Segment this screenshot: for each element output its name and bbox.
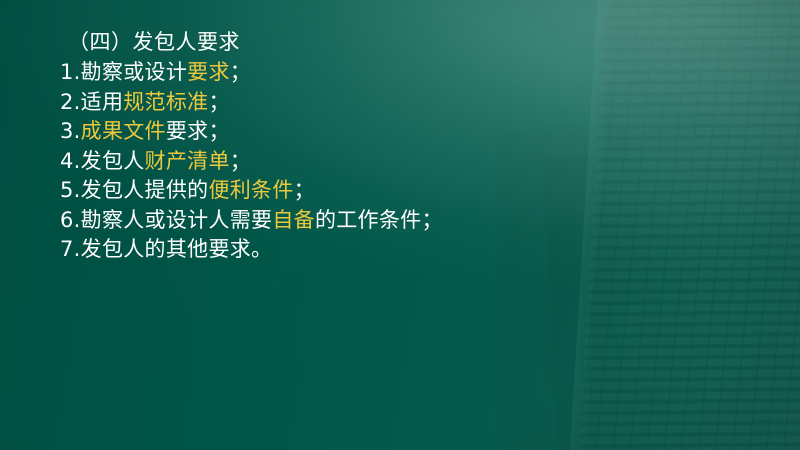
bullet-text: 要求； bbox=[166, 119, 230, 143]
slide-content: （四）发包人要求 1.勘察或设计要求；2.适用规范标准；3.成果文件要求；4.发… bbox=[0, 0, 800, 450]
slide-title: （四）发包人要求 bbox=[68, 28, 240, 56]
bullet-number: 1. bbox=[60, 60, 81, 84]
bullet-text: ； bbox=[294, 178, 315, 202]
highlighted-text: 财产清单 bbox=[145, 149, 230, 173]
presentation-slide: （四）发包人要求 1.勘察或设计要求；2.适用规范标准；3.成果文件要求；4.发… bbox=[0, 0, 800, 450]
bullet-number: 4. bbox=[60, 149, 81, 173]
bullet-number: 6. bbox=[60, 208, 81, 232]
bullet-text: 勘察或设计 bbox=[81, 60, 188, 84]
bullet-text: 发包人提供的 bbox=[81, 178, 209, 202]
bullet-line: 7.发包人的其他要求。 bbox=[60, 235, 760, 265]
highlighted-text: 要求 bbox=[187, 60, 230, 84]
highlighted-text: 自备 bbox=[272, 208, 315, 232]
bullet-line: 6.勘察人或设计人需要自备的工作条件； bbox=[60, 206, 760, 236]
bullet-text: 的工作条件； bbox=[315, 208, 443, 232]
bullet-text: 勘察人或设计人需要 bbox=[81, 208, 273, 232]
bullet-number: 2. bbox=[60, 90, 81, 114]
bullet-text: ； bbox=[230, 149, 251, 173]
bullet-text: 发包人的其他要求。 bbox=[81, 237, 273, 261]
bullet-text: 适用 bbox=[81, 90, 124, 114]
highlighted-text: 成果文件 bbox=[81, 119, 166, 143]
highlighted-text: 便利条件 bbox=[208, 178, 293, 202]
bullet-line: 5.发包人提供的便利条件； bbox=[60, 176, 760, 206]
bullet-text: 发包人 bbox=[81, 149, 145, 173]
bullet-text: ； bbox=[230, 60, 251, 84]
bullet-number: 3. bbox=[60, 119, 81, 143]
bullet-line: 2.适用规范标准； bbox=[60, 88, 760, 118]
bullet-list: 1.勘察或设计要求；2.适用规范标准；3.成果文件要求；4.发包人财产清单；5.… bbox=[60, 58, 760, 265]
bullet-line: 3.成果文件要求； bbox=[60, 117, 760, 147]
bullet-line: 4.发包人财产清单； bbox=[60, 147, 760, 177]
bullet-text: ； bbox=[208, 90, 229, 114]
highlighted-text: 规范标准 bbox=[123, 90, 208, 114]
bullet-number: 7. bbox=[60, 237, 81, 261]
bullet-line: 1.勘察或设计要求； bbox=[60, 58, 760, 88]
bullet-number: 5. bbox=[60, 178, 81, 202]
